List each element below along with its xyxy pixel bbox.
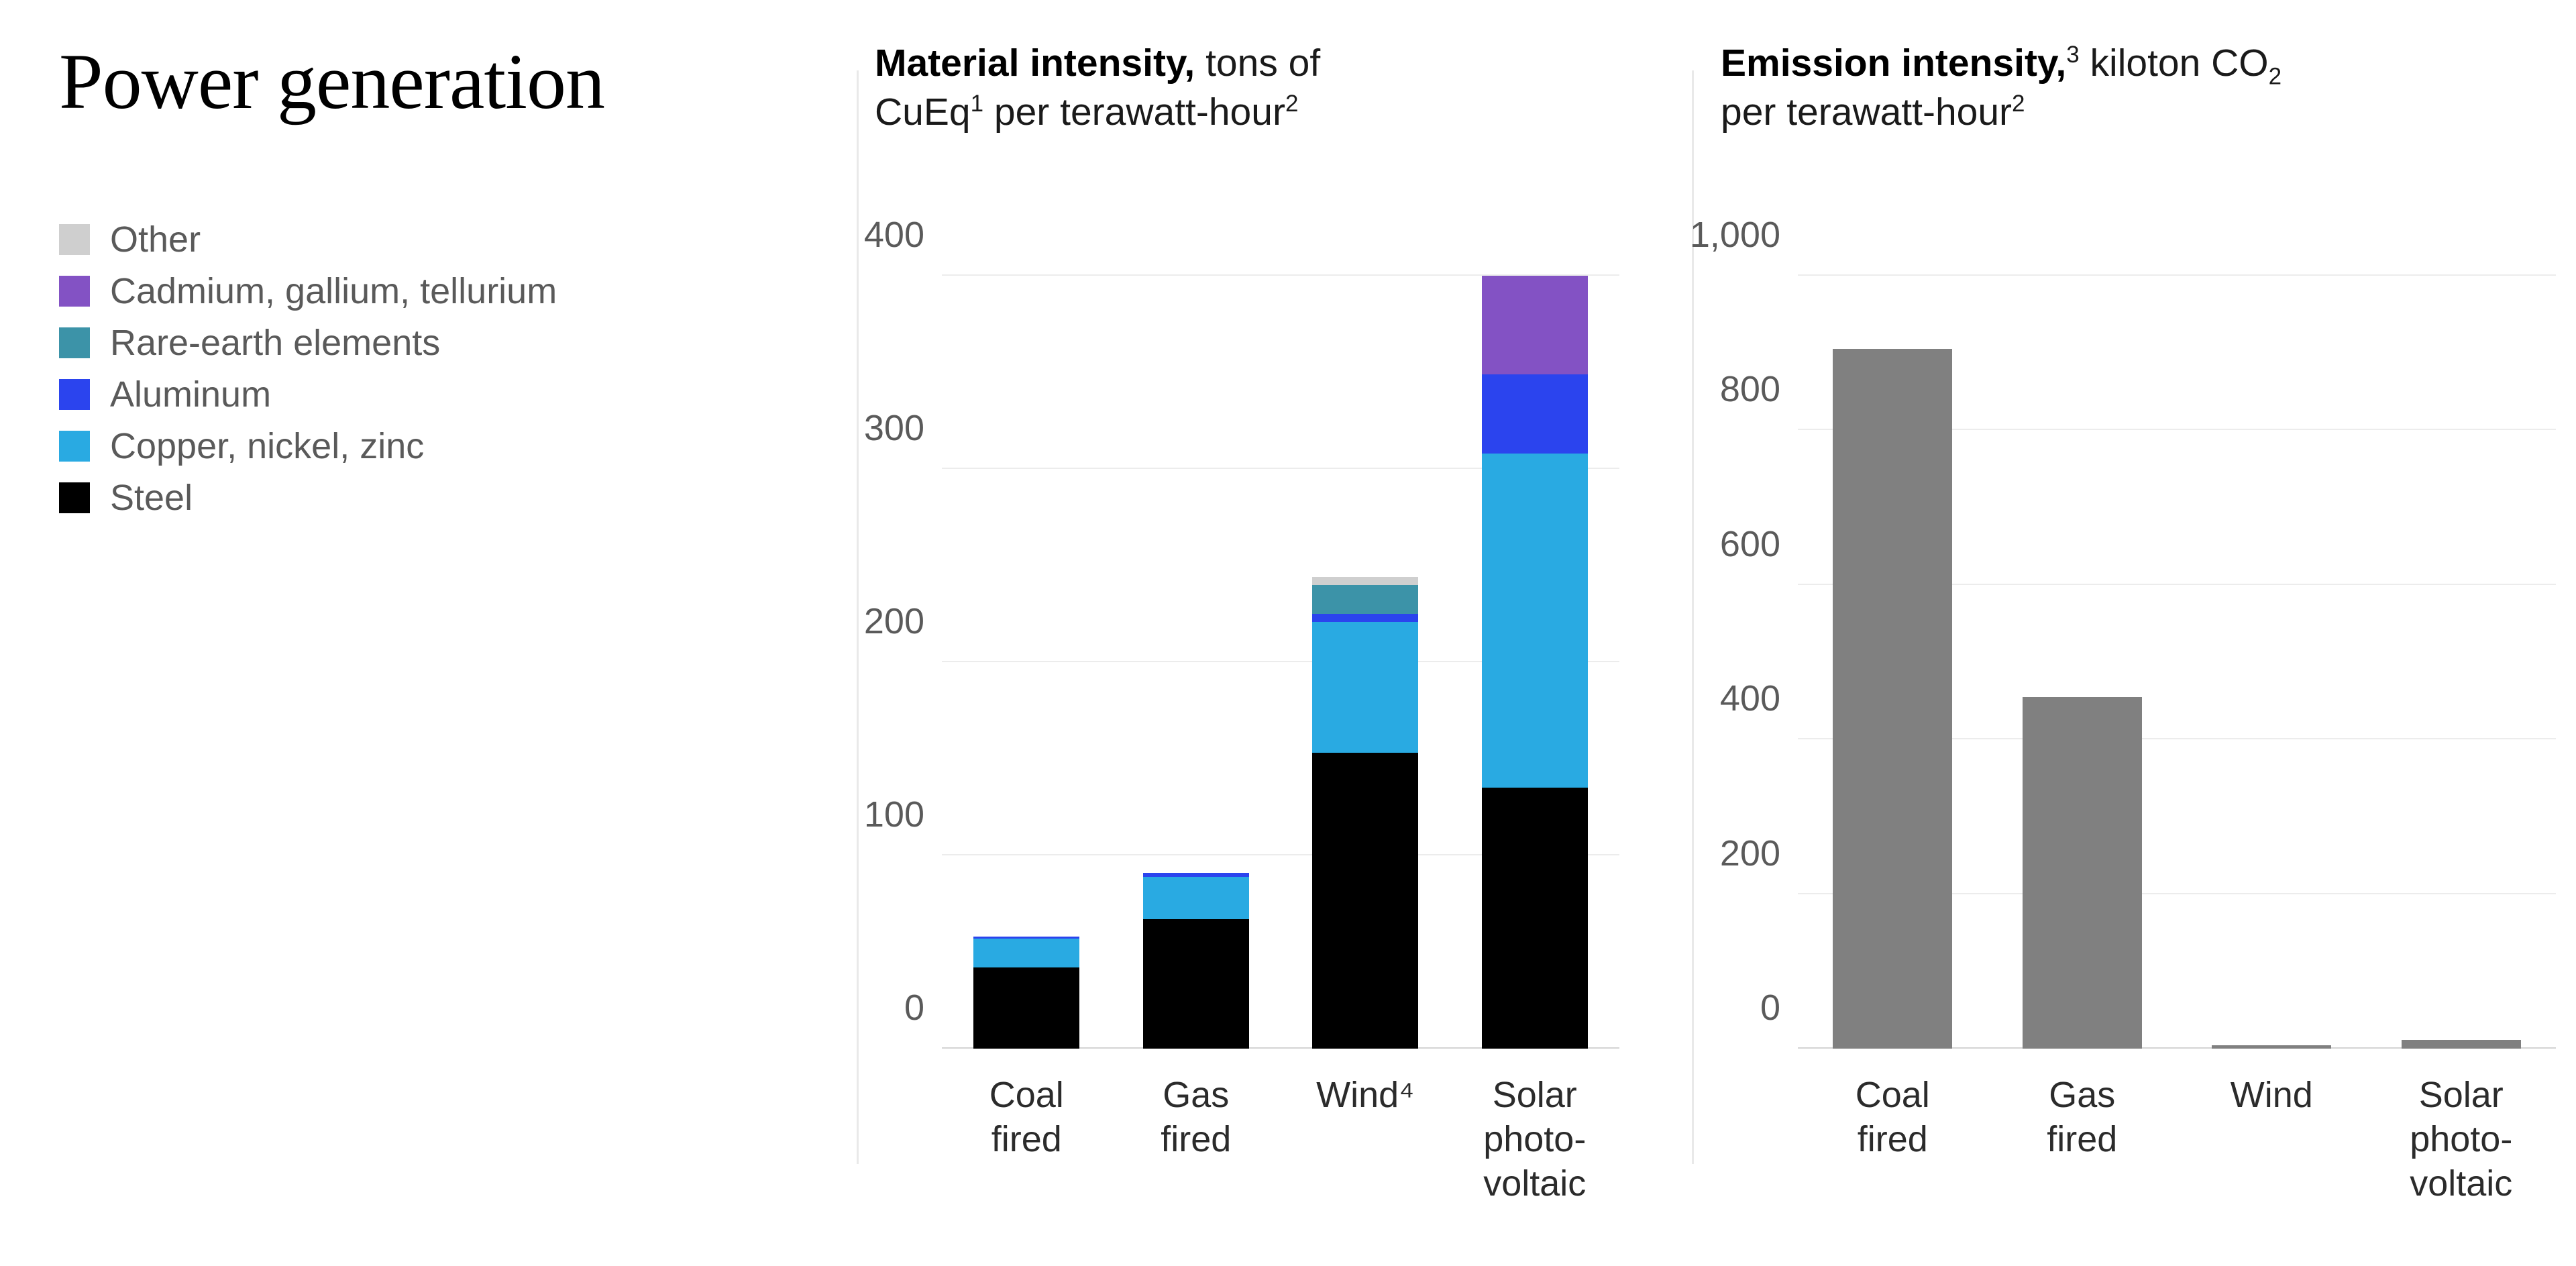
legend-item: Copper, nickel, zinc [59,420,557,472]
y-axis-tick-label: 400 [864,214,924,256]
page-title: Power generation [59,40,604,123]
y-axis-tick-label: 1,000 [1690,214,1780,256]
x-axis-category-label: Gasfired [1112,1073,1281,1206]
stacked-bar[interactable] [1143,873,1249,1049]
x-axis-category-label: Solarphoto-voltaic [2367,1073,2557,1206]
bar-segment[interactable] [1482,788,1588,1049]
y-axis-tick-label: 600 [1720,523,1780,565]
footnote-marker-2b: 2 [2012,91,2025,117]
chart-title-material-intensity: Material intensity, tons of CuEq1 per te… [875,39,1599,137]
bar-segment[interactable] [1312,577,1418,585]
bar-group-material-intensity [942,276,1619,1049]
legend-item-label: Copper, nickel, zinc [110,428,424,464]
bar-slot [2177,276,2367,1049]
x-axis-category-label: Solarphoto-voltaic [1450,1073,1620,1206]
x-axis-category-label: Wind⁴ [1281,1073,1450,1206]
bar-segment[interactable] [973,939,1079,967]
legend-item-label: Other [110,221,201,258]
bar-slot [1281,276,1450,1049]
bar-segment[interactable] [1312,585,1418,614]
x-axis-labels-emission-intensity: CoalfiredGasfiredWindSolarphoto-voltaic [1798,1073,2556,1206]
legend-item-label: Aluminum [110,376,271,413]
y-axis-tick-label: 200 [864,600,924,642]
x-axis-category-label: Coalfired [942,1073,1112,1206]
y-axis-tick-label: 200 [1720,833,1780,874]
stacked-bar[interactable] [1482,276,1588,1049]
bar-segment[interactable] [1482,454,1588,788]
chart-title-bold-material: Material intensity, [875,42,1195,85]
legend-swatch-icon [59,379,90,410]
legend-item-label: Rare-earth elements [110,325,440,361]
bar-segment[interactable] [1143,877,1249,919]
x-axis-category-label: Wind [2177,1073,2367,1206]
legend-item-label: Steel [110,480,193,516]
legend-swatch-icon [59,482,90,513]
footnote-marker-2: 2 [1285,91,1298,117]
bar-slot [1450,276,1620,1049]
bar-segment[interactable] [1312,614,1418,622]
legend: OtherCadmium, gallium, telluriumRare-ear… [59,213,557,523]
co2-subscript: 2 [2269,63,2282,89]
bar[interactable] [2023,697,2142,1049]
bar-slot [2367,276,2557,1049]
x-axis-category-label: Gasfired [1988,1073,2178,1206]
y-axis-tick-label: 400 [1720,678,1780,719]
legend-item: Rare-earth elements [59,317,557,368]
legend-swatch-icon [59,431,90,462]
legend-swatch-icon [59,327,90,358]
chart-emission-intensity: Emission intensity,3 kiloton CO2 per ter… [1694,0,2576,1266]
bar[interactable] [1833,349,1952,1049]
y-axis-tick-label: 0 [1760,987,1780,1028]
stacked-bar[interactable] [1312,577,1418,1049]
bar-segment[interactable] [1312,622,1418,753]
chart-title-bold-emission: Emission intensity, [1721,42,2066,85]
y-axis-tick-label: 0 [904,987,924,1028]
legend-item: Aluminum [59,368,557,420]
legend-swatch-icon [59,224,90,255]
bar[interactable] [2402,1040,2521,1049]
bar-slot [1798,276,1988,1049]
bar-segment[interactable] [1482,276,1588,374]
chart-subtitle-per-twh: per terawatt-hour [983,91,1285,134]
bar[interactable] [2212,1045,2331,1049]
footnote-marker-3: 3 [2066,42,2079,68]
legend-item: Other [59,213,557,265]
chart-title-rest-emission: kiloton CO [2080,42,2269,85]
left-panel: Power generation OtherCadmium, gallium, … [0,0,859,1266]
bar-segment[interactable] [973,967,1079,1049]
chart-title-emission-intensity: Emission intensity,3 kiloton CO2 per ter… [1721,39,2546,137]
bar-segment[interactable] [1482,374,1588,454]
plot-area-emission-intensity: 02004006008001,000 [1798,276,2556,1049]
x-axis-labels-material-intensity: CoalfiredGasfiredWind⁴Solarphoto-voltaic [942,1073,1619,1206]
x-axis-category-label: Coalfired [1798,1073,1988,1206]
bar-slot [1112,276,1281,1049]
stacked-bar[interactable] [973,937,1079,1049]
bar-slot [1988,276,2178,1049]
legend-swatch-icon [59,276,90,307]
legend-item: Cadmium, gallium, tellurium [59,265,557,317]
bar-segment[interactable] [1312,753,1418,1049]
plot-area-material-intensity: 0100200300400 [942,276,1619,1049]
legend-item: Steel [59,472,557,523]
footnote-marker-1: 1 [971,91,983,117]
y-axis-tick-label: 800 [1720,368,1780,410]
chart-subtitle-per-twh-emission: per terawatt-hour [1721,91,2012,134]
y-axis-tick-label: 300 [864,407,924,449]
chart-material-intensity: Material intensity, tons of CuEq1 per te… [859,0,1692,1266]
bar-segment[interactable] [1143,919,1249,1049]
bar-slot [942,276,1112,1049]
legend-item-label: Cadmium, gallium, tellurium [110,273,557,309]
bar-group-emission-intensity [1798,276,2556,1049]
chart-subtitle-cueq: CuEq [875,91,971,134]
chart-title-rest-material: tons of [1195,42,1320,85]
y-axis-tick-label: 100 [864,794,924,835]
